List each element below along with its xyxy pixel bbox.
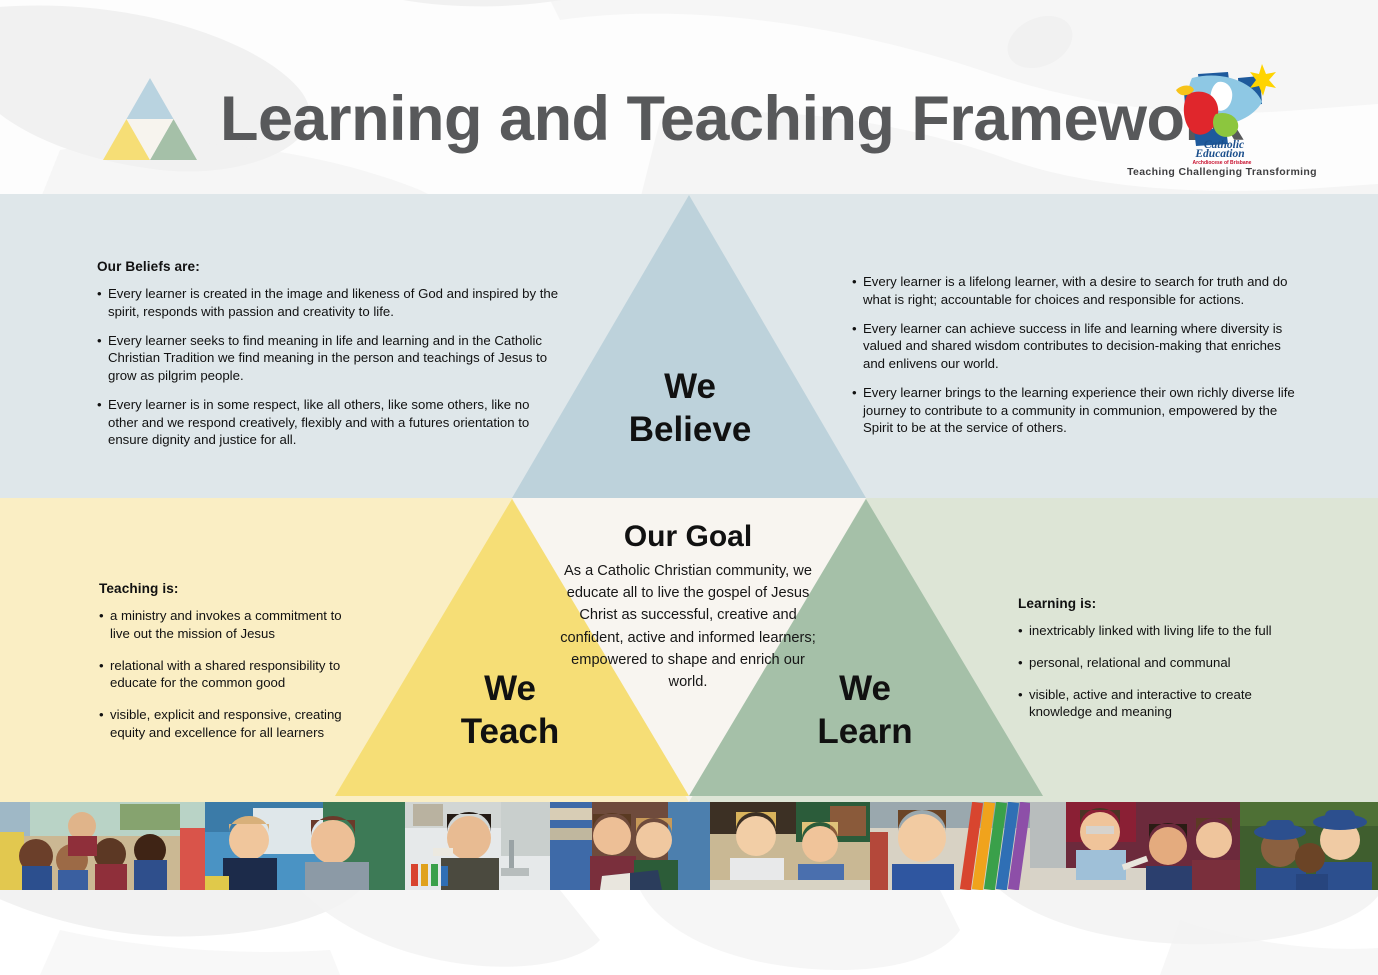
- list-item-text: Every learner brings to the learning exp…: [863, 385, 1295, 436]
- list-item-text: visible, explicit and responsive, creati…: [110, 707, 342, 740]
- we-believe-label: We Believe: [570, 366, 810, 451]
- photo-students-reading-book: [550, 802, 710, 890]
- svg-text:Education: Education: [1194, 148, 1244, 160]
- list-item-text: Every learner is in some respect, like a…: [108, 397, 529, 448]
- our-goal-body: As a Catholic Christian community, we ed…: [551, 560, 825, 693]
- page-title: Learning and Teaching Framework: [220, 88, 1243, 151]
- photo-students-writing-desk: [710, 802, 870, 890]
- list-item: •inextricably linked with living life to…: [1018, 622, 1293, 640]
- beliefs-right-list: •Every learner is a lifelong learner, wi…: [852, 273, 1302, 437]
- photo-teacher-helping-students: [1030, 802, 1240, 890]
- bullet-icon: •: [1018, 654, 1023, 672]
- learning-block: Learning is: •inextricably linked with l…: [1018, 596, 1293, 735]
- list-item-text: Every learner is created in the image an…: [108, 286, 558, 319]
- list-item: •visible, active and interactive to crea…: [1018, 686, 1293, 722]
- list-item: •Every learner is created in the image a…: [97, 285, 559, 321]
- bullet-icon: •: [1018, 622, 1023, 640]
- bullet-icon: •: [99, 657, 104, 675]
- teaching-block: Teaching is: •a ministry and invokes a c…: [99, 581, 359, 756]
- bullet-icon: •: [1018, 686, 1023, 704]
- list-item: •Every learner is a lifelong learner, wi…: [852, 273, 1302, 309]
- list-item: •relational with a shared responsibility…: [99, 657, 359, 693]
- list-item-text: a ministry and invokes a commitment to l…: [110, 608, 342, 641]
- beliefs-right-block: •Every learner is a lifelong learner, wi…: [852, 273, 1302, 448]
- bullet-icon: •: [97, 285, 102, 303]
- we-learn-label-line2: Learn: [750, 711, 980, 754]
- photo-boy-with-coloured-pencils: [870, 802, 1030, 890]
- bullet-icon: •: [852, 320, 857, 338]
- bullet-icon: •: [99, 607, 104, 625]
- our-goal-title: Our Goal: [538, 520, 838, 554]
- catholic-education-logo: Catholic Education Archdiocese of Brisba…: [1166, 58, 1278, 168]
- organisation-tagline: Teaching Challenging Transforming: [1112, 166, 1332, 178]
- photo-student-and-teacher-conversation: [205, 802, 405, 890]
- bullet-icon: •: [852, 273, 857, 291]
- list-item: •personal, relational and communal: [1018, 654, 1293, 672]
- photo-strip: [0, 802, 1378, 890]
- list-item: •Every learner brings to the learning ex…: [852, 384, 1302, 437]
- poster-footer: [0, 890, 1378, 975]
- beliefs-left-list: •Every learner is created in the image a…: [97, 285, 559, 449]
- learning-heading: Learning is:: [1018, 596, 1293, 611]
- list-item: •Every learner seeks to find meaning in …: [97, 332, 559, 385]
- bullet-icon: •: [99, 706, 104, 724]
- beliefs-left-block: Our Beliefs are: •Every learner is creat…: [97, 259, 559, 460]
- photo-primary-students-classroom: [0, 802, 205, 890]
- we-believe-label-line1: We: [570, 366, 810, 409]
- photo-secondary-students-hats: [1240, 802, 1378, 890]
- bullet-icon: •: [97, 332, 102, 350]
- teaching-heading: Teaching is:: [99, 581, 359, 596]
- learning-teaching-framework-poster: Learning and Teaching Framework Catholic: [0, 0, 1378, 975]
- photo-student-science-experiment: [405, 802, 550, 890]
- list-item-text: Every learner is a lifelong learner, wit…: [863, 274, 1287, 307]
- poster-header: Learning and Teaching Framework Catholic: [0, 0, 1378, 194]
- list-item-text: Every learner seeks to find meaning in l…: [108, 333, 547, 384]
- list-item-text: personal, relational and communal: [1029, 655, 1231, 670]
- list-item: •a ministry and invokes a commitment to …: [99, 607, 359, 643]
- list-item: •Every learner can achieve success in li…: [852, 320, 1302, 373]
- list-item: •Every learner is in some respect, like …: [97, 396, 559, 449]
- teaching-list: •a ministry and invokes a commitment to …: [99, 607, 359, 742]
- footer-watermark-swirl: [0, 890, 1378, 975]
- list-item-text: inextricably linked with living life to …: [1029, 623, 1272, 638]
- we-believe-label-line2: Believe: [570, 409, 810, 452]
- list-item-text: Every learner can achieve success in lif…: [863, 321, 1282, 372]
- list-item-text: relational with a shared responsibility …: [110, 658, 340, 691]
- we-teach-label-line2: Teach: [395, 711, 625, 754]
- beliefs-heading: Our Beliefs are:: [97, 259, 559, 274]
- list-item-text: visible, active and interactive to creat…: [1029, 687, 1252, 720]
- framework-triangle-logo: [103, 78, 197, 160]
- bullet-icon: •: [852, 384, 857, 402]
- bullet-icon: •: [97, 396, 102, 414]
- list-item: •visible, explicit and responsive, creat…: [99, 706, 359, 742]
- learning-list: •inextricably linked with living life to…: [1018, 622, 1293, 721]
